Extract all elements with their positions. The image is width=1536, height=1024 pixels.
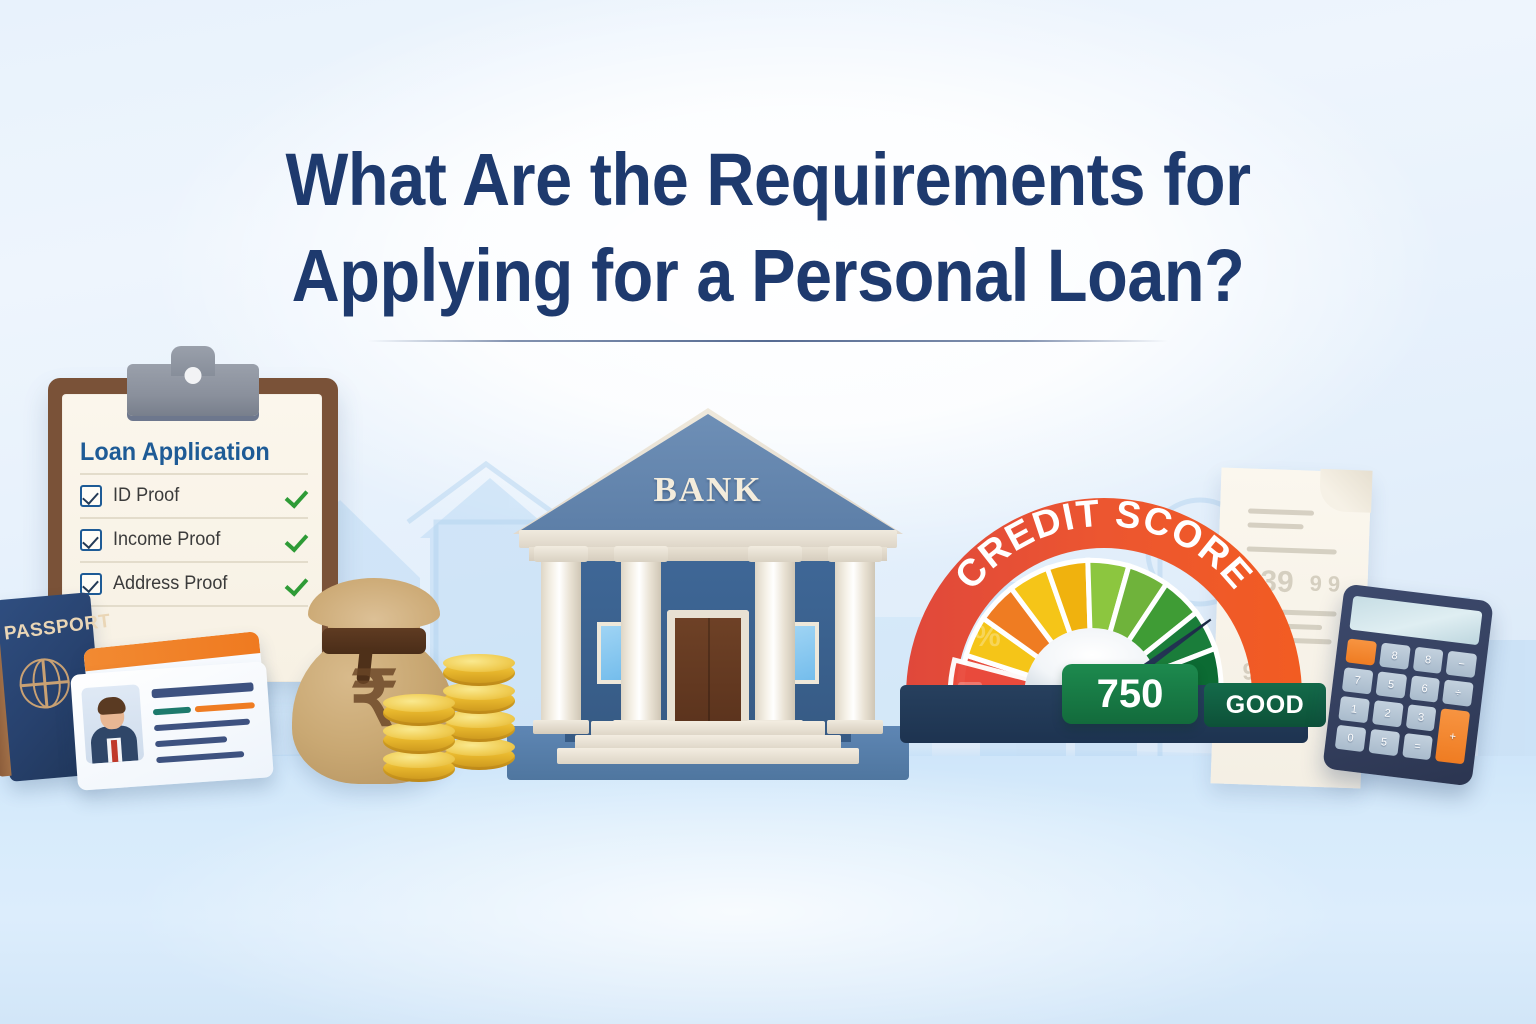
title-line-1: What Are the Requirements for [77,132,1459,228]
checkbox-checked-icon[interactable] [80,529,102,551]
id-text-line [155,736,227,747]
bank-column [541,560,581,722]
title-line-2: Applying for a Personal Loan? [77,228,1459,324]
percent-icon: % [974,620,1001,653]
money-bag-tie [322,628,426,654]
bank-door[interactable] [667,610,749,728]
checkbox-checked-icon[interactable] [80,485,102,507]
calculator-key[interactable]: 5 [1368,729,1399,756]
calculator-key[interactable]: 3 [1405,704,1436,731]
checklist-label: ID Proof [113,485,267,507]
calculator-key-minus[interactable]: − [1446,651,1477,678]
calculator-key[interactable]: 8 [1412,647,1443,674]
bank-step [557,748,859,764]
bank-sign: BANK [519,470,897,510]
checklist-label: Income Proof [113,529,267,551]
credit-score-value: 750 [1097,672,1164,717]
id-text-line [153,707,191,716]
calculator-key[interactable]: 6 [1409,675,1440,702]
calculator-key-clear[interactable] [1345,638,1376,665]
calculator-key[interactable]: 8 [1379,642,1410,669]
coin [383,756,455,782]
checklist-item-id-proof[interactable]: ID Proof [80,473,308,517]
clipboard-clip-hole [185,367,202,384]
checklist-item-address-proof[interactable]: Address Proof [80,561,308,605]
globe-meridian [30,657,62,709]
coin [383,728,455,754]
calculator-key[interactable]: 5 [1375,671,1406,698]
calculator-display [1349,596,1482,646]
coin [383,700,455,726]
id-text-line [156,751,244,763]
clipboard-heading: Loan Application [80,438,294,467]
credit-score-rating: GOOD [1204,683,1326,727]
bank-building: BANK [519,408,897,780]
id-text-line [154,719,250,732]
banner-root: What Are the Requirements for Applying f… [0,0,1536,1024]
page-title: What Are the Requirements for Applying f… [0,132,1536,342]
calculator-key[interactable]: 0 [1335,725,1366,752]
bank-step [591,721,825,736]
calculator-key-equals[interactable]: = [1402,733,1433,760]
title-divider [368,340,1168,342]
money-bag-top [308,578,440,630]
globe-icon [18,656,72,710]
calculator-keypad[interactable]: 8 8 − 7 5 6 ÷ 1 2 3 + 0 5 = [1335,638,1478,764]
id-photo-avatar [81,684,144,764]
calculator-key[interactable]: 1 [1338,696,1369,723]
id-text-line [195,702,255,712]
green-check-icon [286,485,308,507]
avatar-hair [97,696,126,715]
calculator-key[interactable]: 7 [1342,667,1373,694]
credit-score-rating-label: GOOD [1226,691,1304,720]
credit-score-badge: 750 [1062,664,1198,724]
calculator[interactable]: 8 8 − 7 5 6 ÷ 1 2 3 + 0 5 = [1322,584,1494,787]
checklist-label: Address Proof [113,573,267,595]
id-card [70,661,274,790]
checklist-divider [80,605,308,613]
calculator-key-plus[interactable]: + [1435,708,1470,764]
coin [443,660,515,686]
credit-score-gauge: CREDIT SCORE % 750 GOOD [896,446,1312,746]
receipt-number: 9 9 [1309,571,1340,598]
bank-column [621,560,661,722]
checklist-item-income-proof[interactable]: Income Proof [80,517,308,561]
calculator-key-divide[interactable]: ÷ [1442,679,1473,706]
bank-column [755,560,795,722]
green-check-icon [286,529,308,551]
front-coin-stack [383,700,461,814]
ground-surface [0,756,1536,1024]
calculator-key[interactable]: 2 [1372,700,1403,727]
bank-column [835,560,875,722]
id-text-line [151,682,253,698]
